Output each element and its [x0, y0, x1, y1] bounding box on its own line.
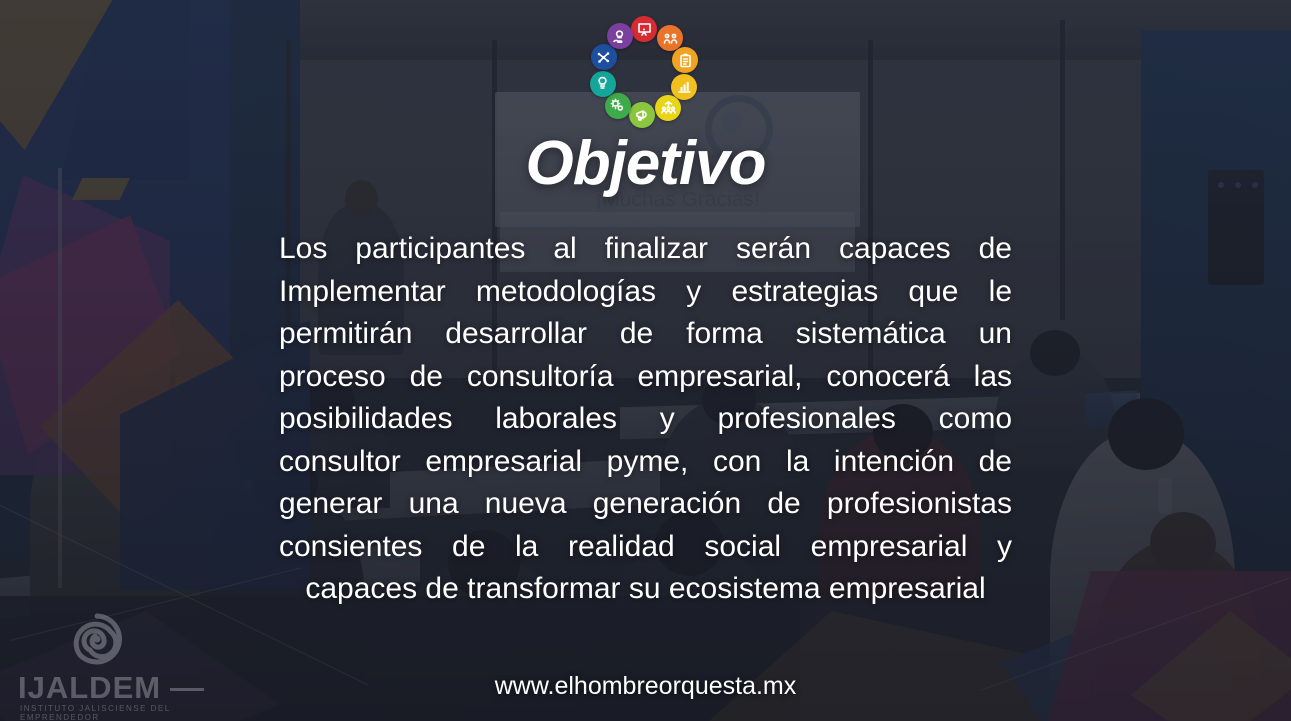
slide-content: Objetivo Los participantes al finalizar … — [0, 0, 1291, 721]
growth-people-icon — [655, 95, 681, 121]
spiral-eye-icon — [70, 612, 124, 666]
objective-text-line: posibilidades laborales y profesionales … — [279, 398, 1012, 441]
icon-wheel-logo — [588, 16, 700, 128]
objective-text-line: Los participantes al finalizar serán cap… — [279, 228, 1012, 271]
gears-icon — [605, 93, 631, 119]
lightbulb-hand-icon — [607, 23, 633, 49]
presenter-icon — [631, 16, 657, 42]
watermark-tagline: INSTITUTO JALISCIENSE DEL EMPRENDEDOR — [20, 704, 220, 721]
objective-text-line: proceso de consultoría empresarial, cono… — [279, 356, 1012, 399]
presentation-slide: IJALDEM ¡Muchas Gracias! — [0, 0, 1291, 721]
objective-text-line: Implementar metodologías y estrategias q… — [279, 271, 1012, 314]
network-icon — [591, 44, 617, 70]
objective-text-line: capaces de transformar su ecosistema emp… — [279, 568, 1012, 611]
objective-text-line: consientes de la realidad social empresa… — [279, 526, 1012, 569]
objective-text-line: generar una nueva generación de profesio… — [279, 483, 1012, 526]
objective-text-line: consultor empresarial pyme, con la inten… — [279, 441, 1012, 484]
clipboard-icon — [672, 47, 698, 73]
watermark-rule — [170, 688, 204, 691]
objective-body-text: Los participantes al finalizar serán cap… — [279, 228, 1012, 611]
handshake-idea-icon — [590, 71, 616, 97]
objective-text-line: permitirán desarrollar de forma sistemát… — [279, 313, 1012, 356]
megaphone-icon — [629, 102, 655, 128]
page-title: Objetivo — [0, 128, 1291, 199]
ijaldem-watermark: IJALDEM INSTITUTO JALISCIENSE DEL EMPREN… — [18, 612, 218, 716]
bar-chart-icon — [671, 74, 697, 100]
